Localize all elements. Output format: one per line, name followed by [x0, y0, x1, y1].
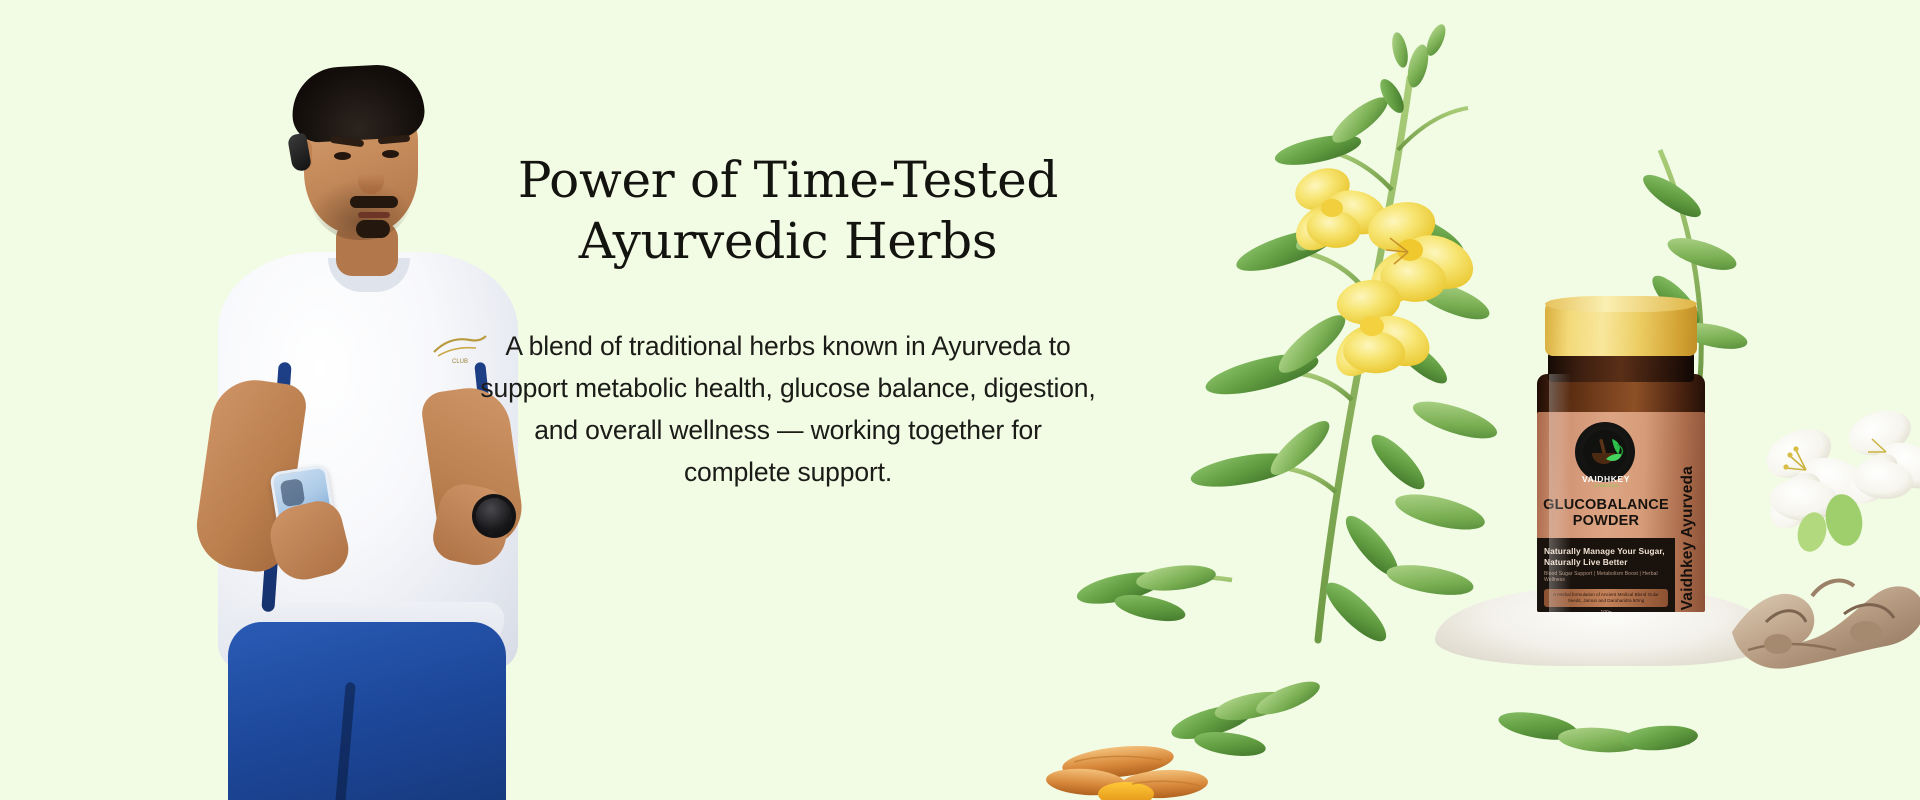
product-formulation-pill: A Herbal formulation of Ancient Medical … — [1544, 589, 1668, 607]
model-mouth — [358, 212, 390, 218]
jar-cap-top-highlight — [1545, 296, 1697, 312]
product-description: Blood Sugar Support | Metabolism Boost |… — [1544, 571, 1668, 584]
product-name-line1: GLUCOBALANCE — [1543, 497, 1669, 513]
model-eye-left — [334, 152, 351, 160]
brand-logo-icon — [1575, 422, 1635, 482]
jar-vertical-brand-text: Vaidhkey Ayurveda — [1679, 466, 1697, 610]
product-tagline-line2: Naturally Live Better — [1544, 557, 1628, 567]
model-nose — [358, 162, 384, 194]
headline-line-2: Ayurvedic Herbs — [478, 211, 1098, 272]
product-name: GLUCOBALANCE POWDER — [1537, 498, 1675, 529]
runner-model-image: CLUB — [100, 62, 520, 800]
model-hair — [290, 63, 426, 144]
phone-camera-icon — [280, 478, 306, 507]
jar-vertical-brand: Vaidhkey Ayurveda — [1675, 418, 1701, 610]
product-jar[interactable]: VAIDHKEY AYURVEDA GLUCOBALANCE POWDER Na… — [1531, 300, 1711, 612]
page-title: Power of Time-Tested Ayurvedic Herbs — [478, 150, 1098, 272]
botanical-decoration — [1000, 0, 1920, 800]
jar-neck — [1548, 352, 1694, 382]
hero-body-text: A blend of traditional herbs known in Ay… — [478, 326, 1098, 493]
product-net-weight: 100g — [1544, 610, 1668, 612]
headline-line-1: Power of Time-Tested — [478, 150, 1098, 211]
dried-root-decoration — [1726, 446, 1920, 676]
hero-copy-block: Power of Time-Tested Ayurvedic Herbs A b… — [478, 150, 1098, 493]
model-moustache — [350, 196, 398, 208]
model-shorts — [228, 622, 506, 800]
product-tagline-line1: Naturally Manage Your Sugar, — [1544, 546, 1665, 556]
product-tagline: Naturally Manage Your Sugar, Naturally L… — [1544, 546, 1668, 568]
turmeric-root-decoration — [1040, 742, 1220, 800]
model-chin-beard — [356, 220, 390, 238]
product-name-line2: POWDER — [1573, 513, 1639, 529]
hero-banner: CLUB — [0, 0, 1920, 800]
brand-subtitle: AYURVEDA — [1567, 483, 1645, 488]
jar-label-dark-band: Naturally Manage Your Sugar, Naturally L… — [1537, 538, 1675, 612]
model-eye-right — [382, 150, 399, 158]
jar-label: VAIDHKEY AYURVEDA GLUCOBALANCE POWDER Na… — [1537, 412, 1705, 612]
svg-text:CLUB: CLUB — [452, 359, 468, 364]
